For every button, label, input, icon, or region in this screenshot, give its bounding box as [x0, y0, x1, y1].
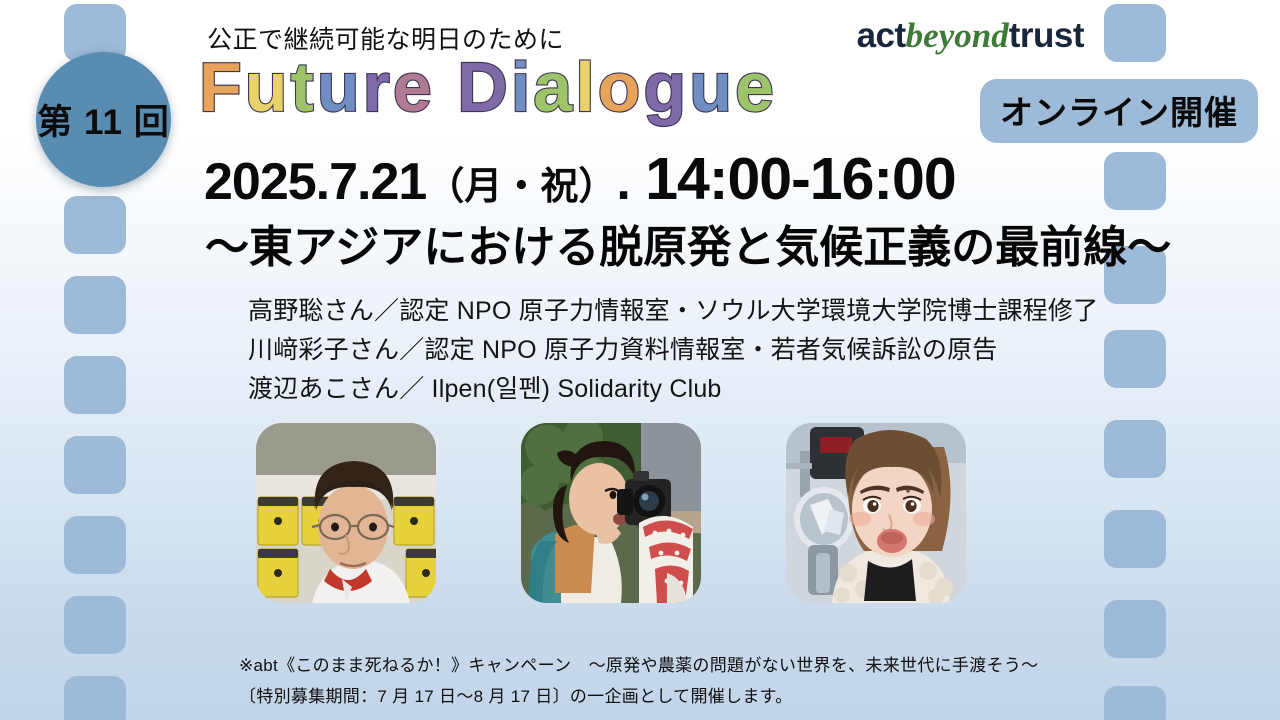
- logo-part-trust: trust: [1009, 16, 1084, 55]
- event-date: 2025.7.21: [204, 153, 426, 211]
- title-letter-1: u: [245, 48, 291, 126]
- footer-note: ※abt《このまま死ねるか！》キャンペーン 〜原発や農薬の問題がない世界を、未来…: [239, 650, 1038, 713]
- event-datetime: 2025.7.21（月・祝）. 14:00-16:00: [204, 150, 956, 209]
- speaker-photo-3: [786, 423, 966, 603]
- edition-badge: 第 11 回: [36, 52, 171, 187]
- speaker-photo-2: [521, 423, 701, 603]
- title-letter-4: r: [363, 48, 393, 126]
- logo-part-beyond: beyond: [906, 16, 1009, 55]
- footer-line: 〔特別募集期間：7 月 17 日〜8 月 17 日〕の一企画として開催します。: [239, 681, 1038, 712]
- event-time: 14:00-16:00: [645, 146, 955, 212]
- page-subtitle: 〜東アジアにおける脱原発と気候正義の最前線〜: [205, 222, 1171, 275]
- photo-1-graphic: [256, 423, 436, 603]
- footer-line: ※abt《このまま死ねるか！》キャンペーン 〜原発や農薬の問題がない世界を、未来…: [239, 650, 1038, 681]
- speaker-photo-1: [256, 423, 436, 603]
- title-letter-7: D: [457, 48, 511, 126]
- page-title: Future Dialogue: [199, 52, 777, 122]
- event-weekday: （月・祝）: [426, 166, 616, 208]
- title-letter-11: o: [598, 48, 644, 126]
- title-letter-9: a: [533, 48, 575, 126]
- online-event-badge: オンライン開催: [980, 79, 1258, 143]
- title-letter-0: F: [199, 48, 245, 126]
- act-beyond-trust-logo: actbeyondtrust: [857, 16, 1084, 56]
- title-letter-5: e: [393, 48, 435, 126]
- edition-badge-label: 第 11 回: [37, 94, 169, 145]
- title-letter-13: u: [689, 48, 735, 126]
- speaker-list: 高野聡さん／認定 NPO 原子力情報室・ソウル大学環境大学院博士課程修了 川﨑彩…: [248, 292, 1098, 408]
- photo-2-graphic: [521, 423, 701, 603]
- logo-part-act: act: [857, 16, 906, 55]
- title-letter-14: e: [735, 48, 777, 126]
- photo-3-graphic: [786, 423, 966, 603]
- title-letter-6: [435, 48, 457, 126]
- list-item: 川﨑彩子さん／認定 NPO 原子力資料情報室・若者気候訴訟の原告: [248, 331, 1098, 370]
- title-letter-12: g: [643, 48, 689, 126]
- title-letter-8: i: [511, 48, 533, 126]
- title-letter-2: t: [291, 48, 317, 126]
- title-letter-10: l: [575, 48, 597, 126]
- datetime-separator: .: [616, 153, 629, 211]
- title-letter-3: u: [317, 48, 363, 126]
- list-item: 渡辺あこさん／ Ilpen(일펜) Solidarity Club: [248, 370, 1098, 409]
- list-item: 高野聡さん／認定 NPO 原子力情報室・ソウル大学環境大学院博士課程修了: [248, 292, 1098, 331]
